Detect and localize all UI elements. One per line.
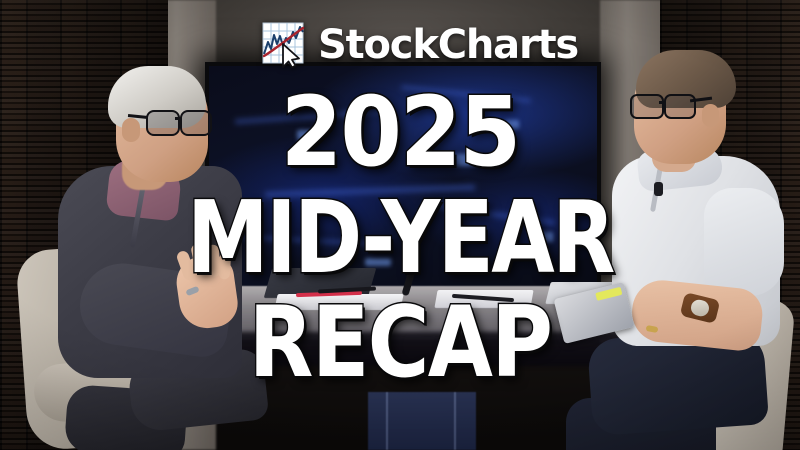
guest-right-sleeve [704, 188, 784, 296]
stockcharts-wordmark: StockCharts [318, 25, 578, 65]
guest-right-ear [702, 104, 719, 127]
tv-bezel [205, 62, 601, 298]
navy-chair-base [368, 392, 476, 450]
host-left-ear [122, 118, 140, 142]
guest-right [596, 48, 800, 450]
stockcharts-chart-cursor-icon [262, 22, 308, 68]
thumbnail-canvas: StockCharts 2025 MID-YEAR RECAP [0, 0, 800, 450]
guest-right-glasses [630, 94, 700, 118]
host-left [10, 58, 260, 450]
stockcharts-logo-lockup[interactable]: StockCharts [262, 22, 578, 68]
desk-item-paper-left [274, 294, 403, 310]
host-left-glasses [146, 110, 214, 134]
wall-mounted-tv [205, 62, 601, 298]
lapel-mic-icon [654, 182, 663, 196]
